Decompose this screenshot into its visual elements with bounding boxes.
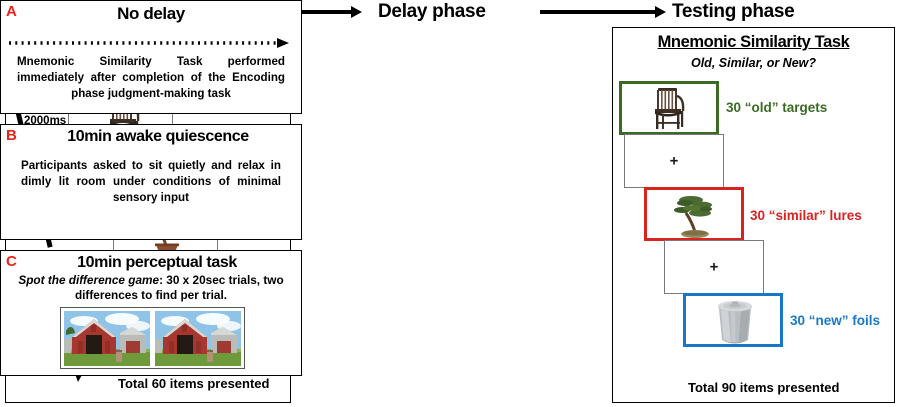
option-c-title: 10min perceptual task: [13, 254, 301, 272]
right-arrow-icon: [540, 6, 666, 18]
chair-image: [622, 84, 718, 133]
stimulus-screen-similar-lure: [644, 187, 744, 241]
phase-title-delay: Delay phase: [378, 1, 486, 23]
option-b-title: 10min awake quiescence: [15, 128, 301, 146]
delay-option-a: A No delay Mnemonic Similarity Task perf…: [0, 0, 302, 114]
stimulus-screen-fixation: +: [664, 240, 764, 294]
stimulus-screen-new-foil: [683, 293, 783, 347]
spot-the-difference-images: [60, 307, 245, 369]
trashcan-image: [686, 296, 782, 345]
phase-title-testing: Testing phase: [672, 1, 794, 23]
dotted-right-arrow-icon: [9, 37, 295, 49]
option-a-title: No delay: [1, 4, 301, 24]
option-letter-b: B: [6, 127, 17, 144]
figure-root: Encoding phase Delay phase Testing phase…: [0, 0, 900, 407]
fixation-cross-icon: +: [710, 260, 719, 275]
barn-photo-left: [64, 311, 150, 366]
stimulus-screen-old-target: [619, 81, 719, 135]
bonsai-tree-image: [647, 190, 743, 239]
testing-panel: Mnemonic Similarity Task Old, Similar, o…: [612, 27, 895, 403]
testing-panel-subtitle: Old, Similar, or New?: [613, 56, 894, 70]
barn-photo-right: [155, 311, 241, 366]
option-b-body: Participants asked to sit quietly and re…: [21, 158, 281, 206]
delay-option-b: B 10min awake quiescence Participants as…: [0, 124, 302, 240]
option-c-description: Spot the difference game: 30 x 20sec tri…: [15, 273, 287, 304]
option-letter-c: C: [6, 253, 17, 270]
option-letter-a: A: [6, 3, 17, 20]
delay-option-c: C 10min perceptual task Spot the differe…: [0, 250, 302, 376]
delay-panel: A No delay Mnemonic Similarity Task perf…: [0, 0, 302, 376]
label-similar-lures: 30 “similar” lures: [750, 208, 862, 223]
testing-total-label: Total 90 items presented: [688, 380, 839, 395]
label-old-targets: 30 “old” targets: [726, 100, 827, 115]
option-c-description-italic: Spot the difference game: [18, 273, 159, 287]
label-new-foils: 30 “new” foils: [790, 313, 880, 328]
encoding-total-label: Total 60 items presented: [118, 376, 269, 391]
fixation-cross-icon: +: [670, 154, 679, 169]
testing-panel-title: Mnemonic Similarity Task: [613, 33, 894, 52]
option-a-body: Mnemonic Similarity Task performed immed…: [17, 54, 285, 102]
stimulus-screen-fixation: +: [624, 134, 724, 188]
